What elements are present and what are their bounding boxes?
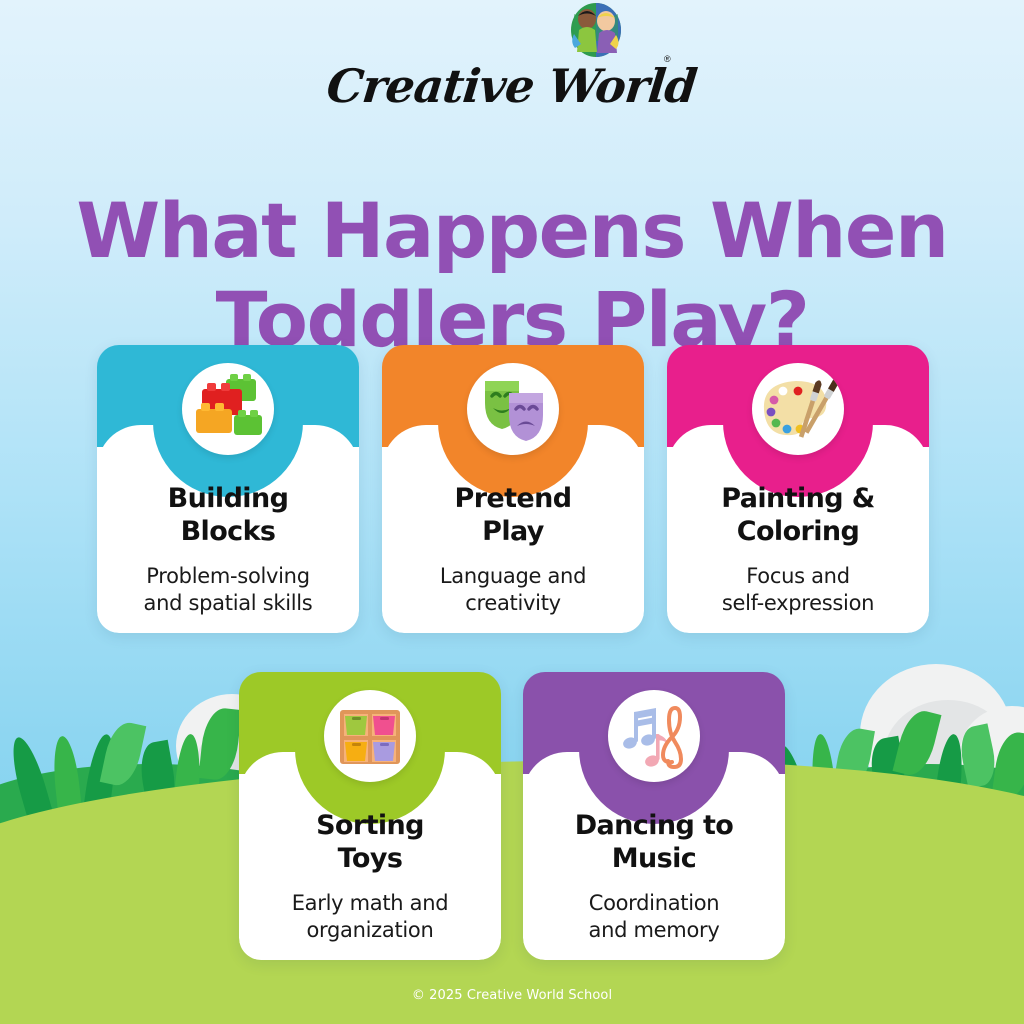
card-description: Problem-solving and spatial skills bbox=[109, 563, 347, 618]
card-title: Dancing to Music bbox=[537, 810, 771, 876]
card-sorting-toys[interactable]: Sorting Toys Early math and organization bbox=[239, 672, 501, 960]
card-desc-line-2: and spatial skills bbox=[144, 591, 313, 615]
card-desc-line-1: Language and bbox=[440, 564, 586, 588]
card-painting-coloring[interactable]: Painting & Coloring Focus and self-expre… bbox=[667, 345, 929, 633]
card-pretend-play[interactable]: Pretend Play Language and creativity bbox=[382, 345, 644, 633]
card-description: Early math and organization bbox=[251, 890, 489, 945]
card-desc-line-1: Focus and bbox=[746, 564, 849, 588]
grass-hill bbox=[0, 760, 1024, 1024]
icon-circle bbox=[752, 363, 844, 455]
brand-logo[interactable]: Creative World bbox=[0, 46, 1024, 126]
copyright-footer: © 2025 Creative World School bbox=[0, 988, 1024, 1003]
card-title-line-2: Blocks bbox=[181, 516, 276, 547]
theater-masks-icon bbox=[467, 363, 559, 455]
card-desc-line-2: self-expression bbox=[722, 591, 874, 615]
card-description: Focus and self-expression bbox=[679, 563, 917, 618]
infographic-canvas: Creative World ® What Happens When Toddl… bbox=[0, 0, 1024, 1024]
card-description: Language and creativity bbox=[394, 563, 632, 618]
card-dancing-to-music[interactable]: Dancing to Music Coordination and memory bbox=[523, 672, 785, 960]
card-title: Sorting Toys bbox=[253, 810, 487, 876]
registered-mark: ® bbox=[664, 54, 671, 64]
card-description: Coordination and memory bbox=[535, 890, 773, 945]
page-title: What Happens When Toddlers Play? bbox=[0, 187, 1024, 365]
card-title-line-1: Pretend bbox=[455, 483, 572, 514]
storage-bins-icon bbox=[324, 690, 416, 782]
card-desc-line-2: organization bbox=[307, 918, 434, 942]
card-title-line-2: Play bbox=[482, 516, 544, 547]
card-desc-line-2: and memory bbox=[589, 918, 720, 942]
card-title-line-1: Painting & bbox=[721, 483, 874, 514]
icon-circle bbox=[324, 690, 416, 782]
icon-circle bbox=[182, 363, 274, 455]
music-notes-icon bbox=[608, 690, 700, 782]
card-title: Pretend Play bbox=[396, 483, 630, 549]
card-title-line-2: Toys bbox=[338, 843, 403, 874]
icon-circle bbox=[608, 690, 700, 782]
page-title-line-1: What Happens When bbox=[0, 187, 1024, 276]
icon-circle bbox=[467, 363, 559, 455]
card-desc-line-2: creativity bbox=[465, 591, 561, 615]
card-building-blocks[interactable]: Building Blocks Problem-solving and spat… bbox=[97, 345, 359, 633]
card-title: Building Blocks bbox=[111, 483, 345, 549]
card-title-line-1: Sorting bbox=[316, 810, 424, 841]
lego-bricks-icon bbox=[182, 363, 274, 455]
card-title-line-1: Dancing to bbox=[575, 810, 734, 841]
card-title: Painting & Coloring bbox=[681, 483, 915, 549]
two-children-globe-icon bbox=[566, 2, 626, 60]
card-desc-line-1: Coordination bbox=[589, 891, 720, 915]
brand-wordmark: Creative World bbox=[325, 63, 699, 109]
card-desc-line-1: Early math and bbox=[292, 891, 449, 915]
card-title-line-1: Building bbox=[168, 483, 289, 514]
card-desc-line-1: Problem-solving bbox=[146, 564, 309, 588]
card-title-line-2: Music bbox=[612, 843, 696, 874]
paint-palette-icon bbox=[752, 363, 844, 455]
card-title-line-2: Coloring bbox=[737, 516, 860, 547]
